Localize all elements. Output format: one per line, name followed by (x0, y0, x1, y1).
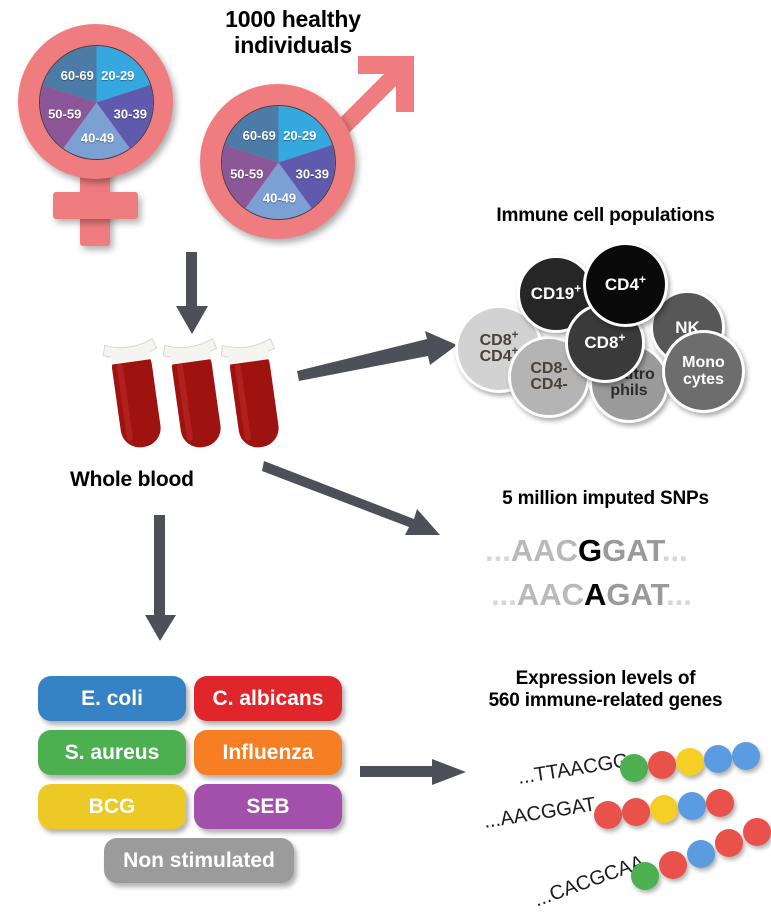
snp-variant-2: A (584, 577, 606, 612)
snp-sequences: ...AACGGAT... ...AACAGAT... (485, 533, 755, 623)
male-symbol: 20-2930-3940-4950-5960-69 (192, 50, 422, 250)
expression-heading-line2: 560 immune-related genes (440, 690, 771, 712)
expression-strand-3-sequence: ...CACGCAA (531, 851, 647, 912)
expression-strand-1-bead-4 (704, 745, 732, 773)
stimulus-c-albicans[interactable]: C. albicans (194, 676, 342, 721)
stimulus-non-stimulated[interactable]: Non stimulated (104, 838, 294, 883)
age-slice-label-50-59: 50-59 (48, 107, 81, 122)
snp-left-2: AAC (517, 577, 584, 612)
whole-blood-label: Whole blood (70, 468, 270, 492)
snp-suffix-2: ... (666, 577, 692, 612)
expression-strand-2-bead-1 (594, 801, 622, 829)
stimulus-influenza-label: Influenza (222, 741, 313, 765)
immune-cell-cd8neg-cd4neg-label: CD8-CD4- (530, 361, 567, 394)
stimulus-s-aureus-label: S. aureus (65, 741, 160, 765)
stimulus-s-aureus[interactable]: S. aureus (38, 730, 186, 775)
immune-cell-cd4: CD4+ (583, 242, 668, 327)
whole-blood-tubes (100, 335, 290, 460)
snp-left-1: AAC (511, 533, 578, 568)
stimulus-e-coli-label: E. coli (81, 687, 143, 711)
age-slice-label-30-39: 30-39 (114, 107, 147, 122)
age-slice-label-50-59: 50-59 (230, 167, 263, 182)
figure-canvas: 1000 healthy individuals 20-2930-3940-49… (0, 0, 771, 922)
age-slice-label-30-39: 30-39 (296, 167, 329, 182)
expression-heading: Expression levels of 560 immune-related … (440, 668, 771, 712)
snp-right-1: GAT (602, 533, 662, 568)
arrow-blood-to-snps (262, 455, 447, 540)
stimulus-e-coli[interactable]: E. coli (38, 676, 186, 721)
snp-sequence-row-2: ...AACAGAT... (491, 577, 692, 613)
expression-strand-3-bead-3 (687, 840, 715, 868)
expression-strand-2-bead-4 (678, 792, 706, 820)
arrow-cohort-to-blood (172, 252, 212, 336)
female-age-pie: 20-2930-3940-4950-5960-69 (39, 45, 154, 160)
stimulus-seb-label: SEB (246, 795, 289, 819)
expression-strand-3-bead-2 (659, 851, 687, 879)
stimulus-bcg-label: BCG (89, 795, 136, 819)
stimulus-bcg[interactable]: BCG (38, 784, 186, 829)
snp-prefix-2: ... (491, 577, 517, 612)
immune-cell-cluster: CD19+ CD4+ NK CD8+CD4+ CD8+ CD8-CD4- Neu… (455, 240, 755, 420)
expression-strand-1-bead-5 (732, 742, 760, 770)
age-slice-label-20-29: 20-29 (101, 68, 134, 83)
stimulus-c-albicans-label: C. albicans (213, 687, 324, 711)
expression-strand-3-bead-4 (715, 829, 743, 857)
expression-strand-1-bead-1 (620, 754, 648, 782)
age-slice-label-60-69: 60-69 (61, 68, 94, 83)
cohort-heading-line1: 1000 healthy (178, 6, 408, 32)
expression-strand-1-bead-2 (648, 751, 676, 779)
age-slice-label-20-29: 20-29 (283, 128, 316, 143)
snp-suffix-1: ... (662, 533, 688, 568)
expression-heading-line1: Expression levels of (440, 668, 771, 690)
expression-strand-2-bead-2 (622, 798, 650, 826)
stimulus-non-stimulated-label: Non stimulated (123, 849, 275, 873)
expression-strand-3: ...CACGCAA (535, 845, 771, 915)
expression-strand-3-bead-5 (743, 818, 771, 846)
immune-cell-cd19-label: CD19+ (531, 285, 582, 302)
arrow-stimuli-to-expression (360, 752, 470, 794)
expression-strand-3-bead-1 (631, 862, 659, 890)
stimuli-panel: E. coli C. albicans S. aureus Influenza … (38, 676, 358, 901)
snp-variant-1: G (578, 533, 602, 568)
immune-cell-cd4-label: CD4+ (605, 276, 646, 293)
stimulus-influenza[interactable]: Influenza (194, 730, 342, 775)
expression-strand-2-bead-5 (706, 789, 734, 817)
snps-heading: 5 million imputed SNPs (440, 488, 771, 510)
immune-cell-monocytes-label: Monocytes (682, 355, 725, 388)
snp-right-2: GAT (606, 577, 666, 612)
arrow-blood-to-immune (295, 325, 460, 385)
snp-sequence-row-1: ...AACGGAT... (485, 533, 688, 569)
immune-cell-monocytes: Monocytes (662, 330, 745, 413)
female-symbol-cross (53, 192, 138, 219)
age-slice-label-60-69: 60-69 (243, 128, 276, 143)
age-slice-label-40-49: 40-49 (81, 131, 114, 146)
stimulus-seb[interactable]: SEB (194, 784, 342, 829)
expression-strand-1-sequence: ...TTAACGG (516, 750, 630, 790)
snp-prefix-1: ... (485, 533, 511, 568)
expression-strand-1-bead-3 (676, 748, 704, 776)
immune-cell-cd8-label: CD8+ (584, 334, 625, 351)
expression-strand-2-sequence: ...AACGGAT (482, 793, 597, 833)
female-symbol: 20-2930-3940-4950-5960-69 (8, 14, 198, 244)
male-age-pie: 20-2930-3940-4950-5960-69 (221, 105, 336, 220)
arrow-blood-to-stimuli (140, 515, 182, 643)
age-slice-label-40-49: 40-49 (263, 191, 296, 206)
expression-strands: ...TTAACGG ...AACGGAT ...CACGCAA (470, 735, 770, 915)
immune-heading: Immune cell populations (440, 205, 771, 227)
expression-strand-2-bead-3 (650, 795, 678, 823)
